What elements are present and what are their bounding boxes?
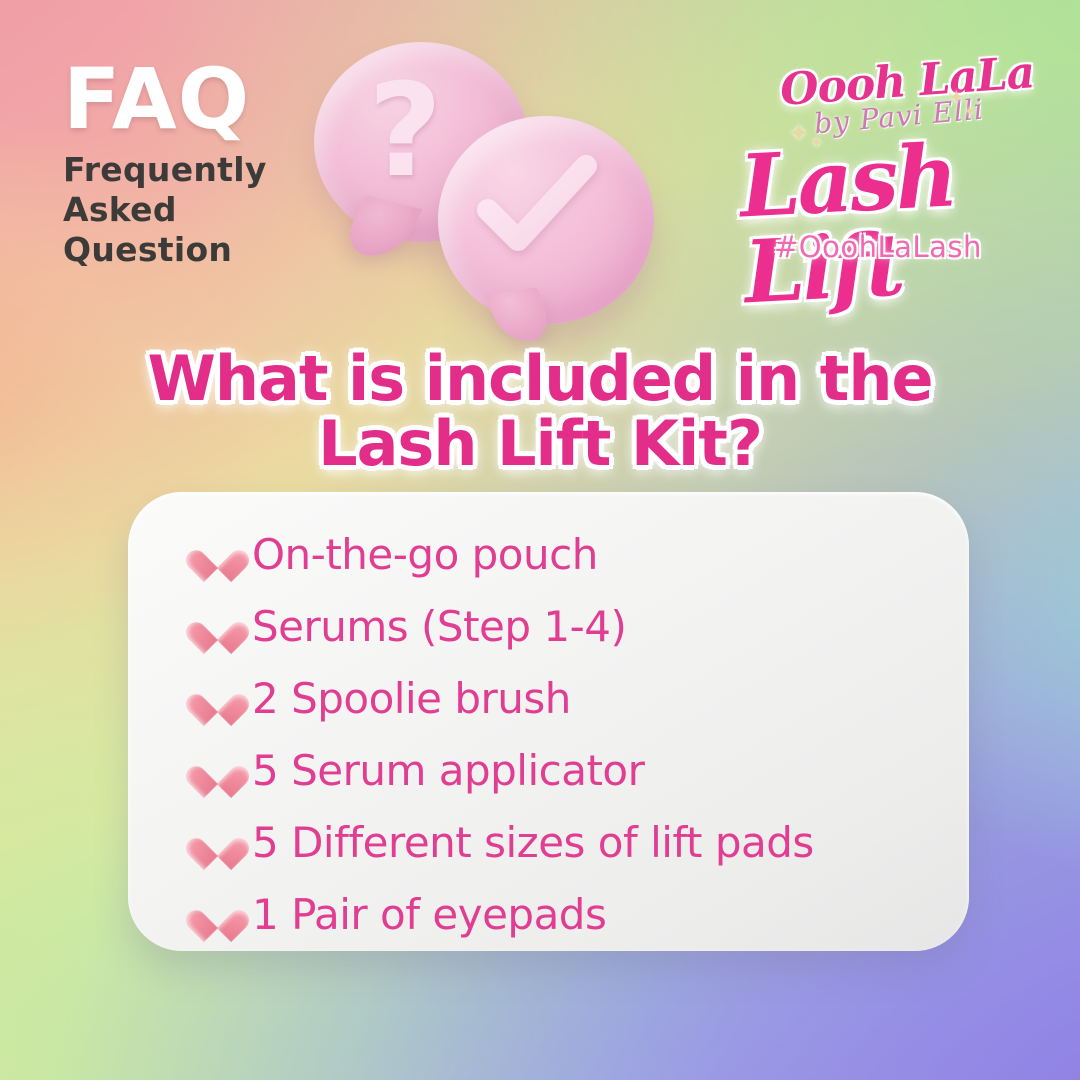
list-item: 2 Spoolie brush [198, 662, 814, 734]
page-title: What is included in the Lash Lift Kit? [0, 346, 1080, 476]
heart-icon [198, 753, 252, 787]
sparkle-icon: ✦ [948, 88, 965, 108]
faq-subtitle-line-3: Question [63, 230, 267, 270]
kit-contents-list: On-the-go pouch Serums (Step 1-4) 2 Spoo… [198, 518, 814, 950]
heart-icon [198, 897, 252, 931]
list-item-label: 5 Different sizes of lift pads [252, 818, 814, 867]
list-item: 5 Serum applicator [198, 734, 814, 806]
list-item-label: 2 Spoolie brush [252, 674, 571, 723]
list-item-label: On-the-go pouch [252, 530, 598, 579]
faq-subtitle: Frequently Asked Question [63, 150, 267, 271]
page-title-line-1: What is included in the [0, 346, 1080, 411]
faq-acronym: FAQ [63, 62, 267, 138]
question-mark-icon: ? [368, 68, 442, 196]
list-item: Serums (Step 1-4) [198, 590, 814, 662]
list-item-label: 1 Pair of eyepads [252, 890, 606, 939]
heart-icon [198, 609, 252, 643]
page-title-line-2: Lash Lift Kit? [0, 411, 1080, 476]
list-item: 5 Different sizes of lift pads [198, 806, 814, 878]
faq-subtitle-line-2: Asked [63, 190, 267, 230]
heart-icon [198, 681, 252, 715]
list-item-label: 5 Serum applicator [252, 746, 644, 795]
faq-header: FAQ Frequently Asked Question [63, 62, 267, 270]
brand-product-title: Lash Lift [738, 128, 1073, 317]
list-item: 1 Pair of eyepads [198, 878, 814, 950]
faq-subtitle-line-1: Frequently [63, 150, 267, 190]
brand-logo: Oooh LaLa by Pavi Elli ✦ ✦ ✦ ✦ Lash Lift… [752, 48, 1068, 298]
heart-icon [198, 825, 252, 859]
list-item: On-the-go pouch [198, 518, 814, 590]
heart-icon [198, 537, 252, 571]
list-item-label: Serums (Step 1-4) [252, 602, 626, 651]
kit-contents-card: On-the-go pouch Serums (Step 1-4) 2 Spoo… [128, 492, 969, 951]
speech-bubbles-illustration: ? [306, 32, 656, 332]
brand-hashtag: #OoohLaLash [774, 230, 982, 264]
sparkle-icon: ✦ [964, 104, 976, 118]
check-mark-icon [474, 144, 604, 264]
